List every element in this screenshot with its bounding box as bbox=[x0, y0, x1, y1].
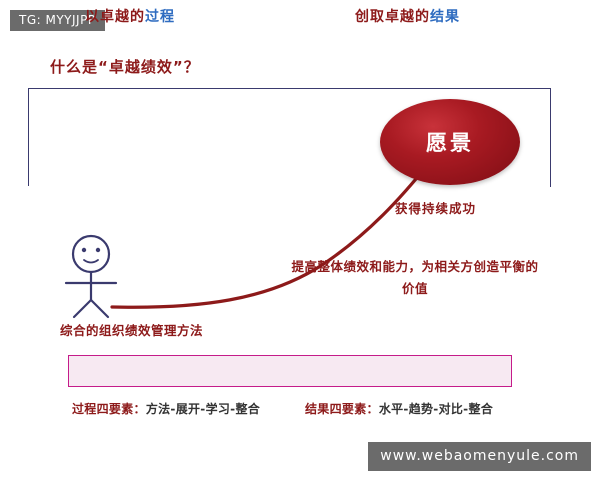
vision-ellipse: 愿景 bbox=[380, 99, 520, 185]
annotation-performance-capability: 提高整体绩效和能力，为相关方创造平衡的价值 bbox=[290, 256, 540, 300]
banner-result-highlight: 结果 bbox=[430, 6, 460, 26]
site-watermark: www.webaomenyule.com bbox=[368, 442, 591, 471]
detail-result-elements: 结果四要素：水平-趋势-对比-整合 bbox=[305, 400, 493, 417]
detail-process-value: 方法-展开-学习-整合 bbox=[146, 402, 260, 416]
banner-process-text: 以卓越的过程 bbox=[85, 0, 175, 32]
slide-canvas: TG: MYYJJPP 什么是“卓越绩效”？ 愿景 获得持续成功 提高整体绩效和… bbox=[0, 0, 600, 480]
annotation-integrated-approach: 综合的组织绩效管理方法 bbox=[60, 320, 203, 339]
banner-result-prefix: 创取卓越的 bbox=[355, 6, 430, 26]
banner-process-highlight: 过程 bbox=[145, 6, 175, 26]
annotation-sustained-success: 获得持续成功 bbox=[395, 198, 476, 217]
detail-result-label: 结果四要素： bbox=[305, 402, 379, 416]
banner-result-text: 创取卓越的结果 bbox=[355, 0, 460, 32]
detail-process-label: 过程四要素： bbox=[72, 402, 146, 416]
banner-process-prefix: 以卓越的 bbox=[85, 6, 145, 26]
vision-label: 愿景 bbox=[380, 99, 520, 185]
detail-process-elements: 过程四要素：方法-展开-学习-整合 bbox=[72, 400, 260, 417]
bottom-banner bbox=[68, 355, 512, 387]
detail-result-value: 水平-趋势-对比-整合 bbox=[379, 402, 493, 416]
